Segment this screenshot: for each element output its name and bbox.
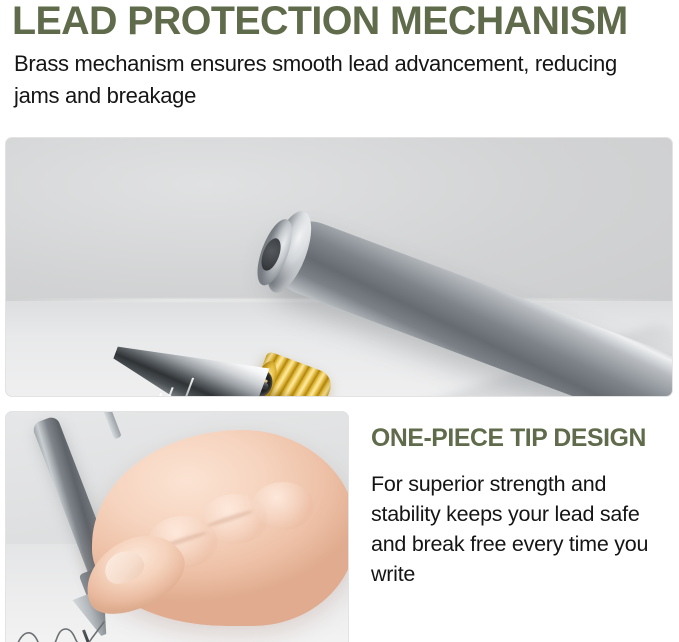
knuckle-highlight xyxy=(252,482,314,530)
page-subtitle: Brass mechanism ensures smooth lead adva… xyxy=(14,48,664,112)
feature-body-text: For superior strength and stability keep… xyxy=(371,469,676,589)
hero-product-photo xyxy=(5,137,673,397)
feature-title: ONE-PIECE TIP DESIGN xyxy=(371,423,670,453)
infographic-page: LEAD PROTECTION MECHANISM Brass mechanis… xyxy=(0,0,679,642)
drawn-squiggle-line xyxy=(14,608,110,642)
writing-demo-photo xyxy=(5,411,349,642)
page-title: LEAD PROTECTION MECHANISM xyxy=(12,0,662,43)
